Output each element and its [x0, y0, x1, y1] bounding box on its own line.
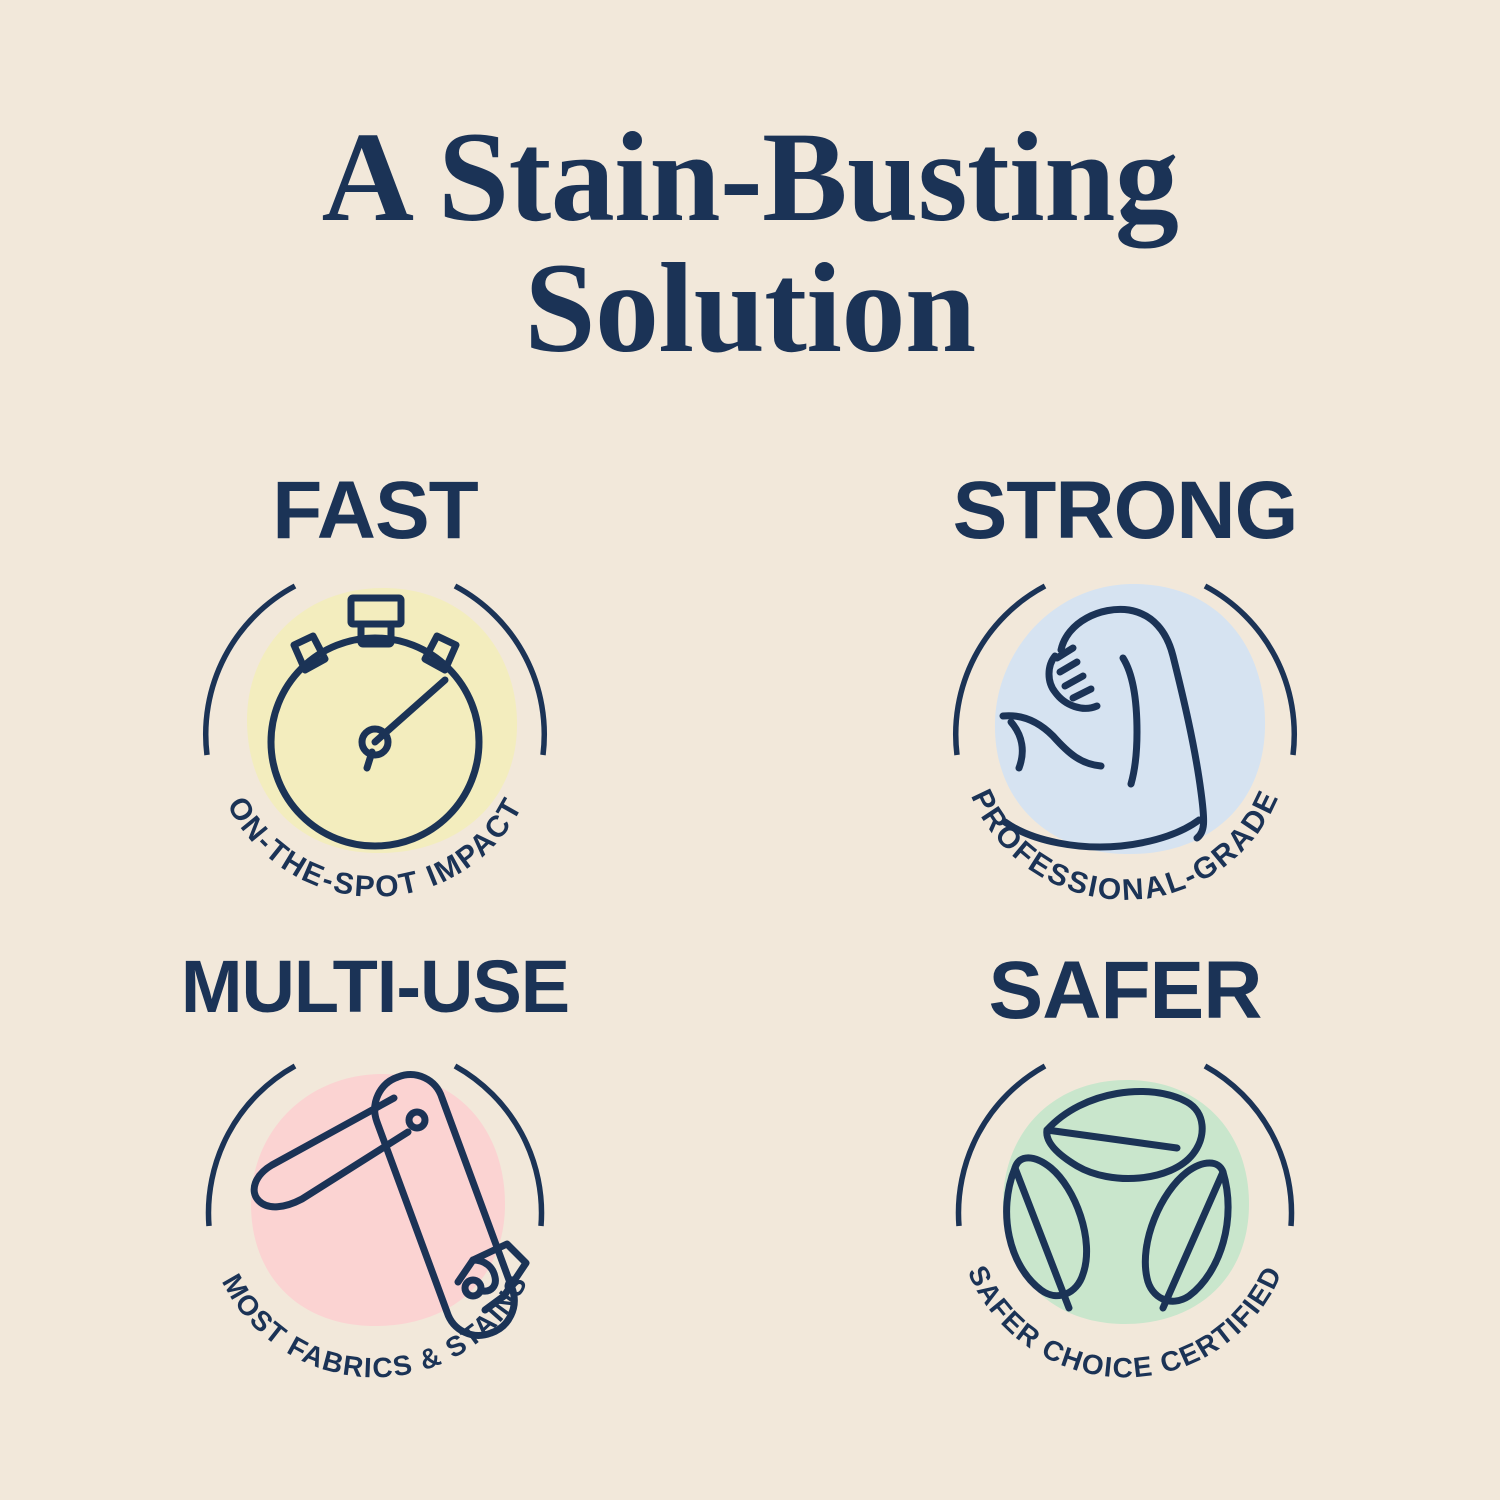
- feature-badge-strong: STRONG: [750, 470, 1500, 950]
- badge-heading-fast: FAST: [155, 470, 595, 552]
- badge-heading-strong: STRONG: [905, 470, 1345, 552]
- badge-graphic-safer: SAFER CHOICE CERTIFIED: [905, 1020, 1345, 1390]
- feature-badge-safer: SAFER: [750, 950, 1500, 1430]
- feature-badge-fast: FAST: [0, 470, 750, 950]
- page-title: A Stain-Busting Solution: [0, 112, 1500, 373]
- feature-badge-grid: FAST: [0, 470, 1500, 1430]
- page-title-line-1: A Stain-Busting: [0, 112, 1500, 243]
- badge-graphic-fast: ON-THE-SPOT IMPACT: [155, 540, 595, 910]
- badge-graphic-strong: PROFESSIONAL-GRADE: [905, 540, 1345, 910]
- feature-badge-multi-use: MULTI-USE: [0, 950, 750, 1430]
- badge-graphic-multi-use: MOST FABRICS & STAINS: [155, 1020, 595, 1390]
- badge-heading-multi-use: MULTI-USE: [155, 950, 595, 1024]
- infographic-page: A Stain-Busting Solution FAST: [0, 0, 1500, 1500]
- badge-heading-safer: SAFER: [905, 950, 1345, 1032]
- page-title-line-2: Solution: [0, 243, 1500, 374]
